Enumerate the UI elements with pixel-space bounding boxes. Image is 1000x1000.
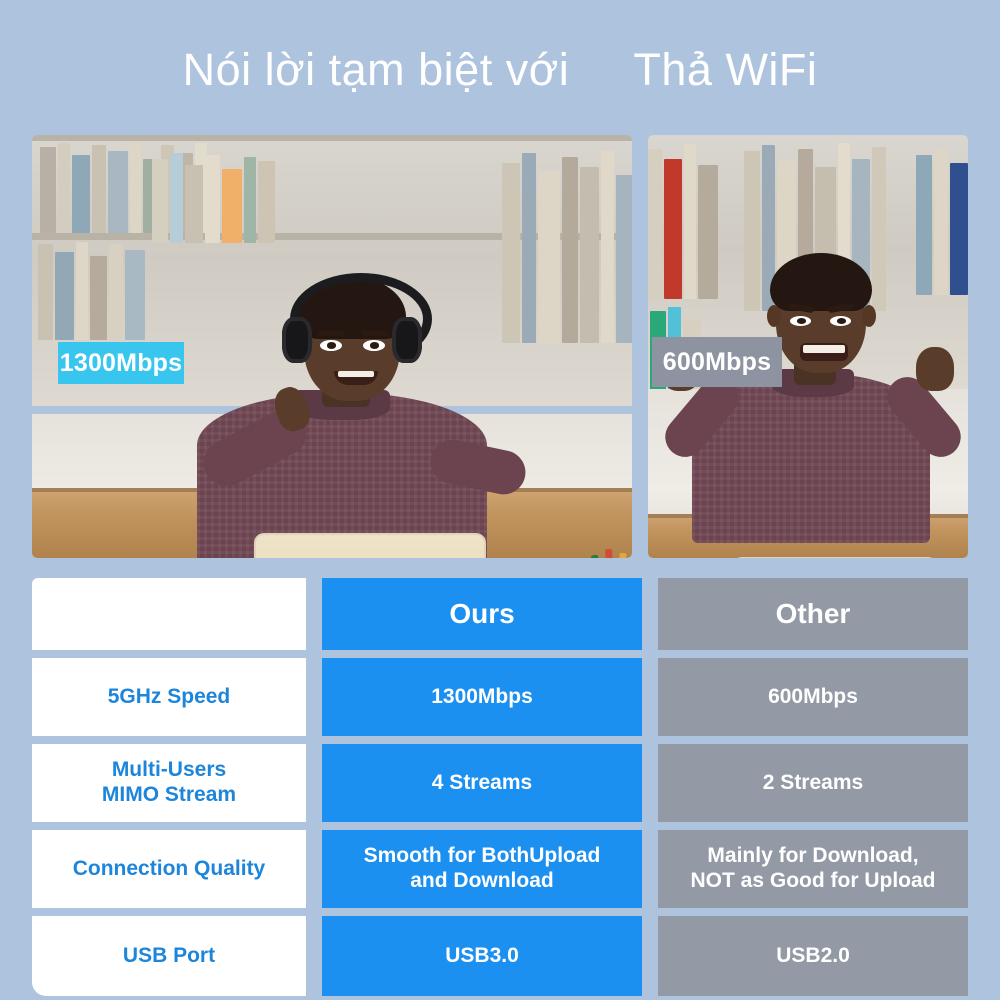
photo-ours: 1300Mbps — [32, 135, 632, 558]
header-cell-feature — [32, 578, 306, 650]
feature-cell: USB Port — [32, 916, 306, 996]
table-header-row: Ours Other — [32, 578, 968, 650]
ours-value-cell: 4 Streams — [322, 744, 642, 822]
feature-cell: Multi-Users MIMO Stream — [32, 744, 306, 822]
feature-cell: 5GHz Speed — [32, 658, 306, 736]
other-value-cell: 2 Streams — [658, 744, 968, 822]
photo-comparison-row: 1300Mbps — [32, 135, 968, 558]
header-cell-other: Other — [658, 578, 968, 650]
other-value-cell: Mainly for Download, NOT as Good for Upl… — [658, 830, 968, 908]
ours-value-cell: 1300Mbps — [322, 658, 642, 736]
page-title-text: Nói lời tạm biệt với Thả WiFi — [183, 47, 818, 92]
table-row: Multi-Users MIMO Stream 4 Streams 2 Stre… — [32, 744, 968, 822]
table-row: USB Port USB3.0 USB2.0 — [32, 916, 968, 996]
badge-speed-other: 600Mbps — [652, 337, 782, 387]
badge-speed-ours: 1300Mbps — [58, 342, 184, 384]
other-value-cell: 600Mbps — [658, 658, 968, 736]
ours-value-cell: USB3.0 — [322, 916, 642, 996]
page-title: Nói lời tạm biệt với Thả WiFi — [0, 33, 1000, 105]
badge-speed-ours-label: 1300Mbps — [60, 349, 183, 378]
other-value-cell: USB2.0 — [658, 916, 968, 996]
feature-cell: Connection Quality — [32, 830, 306, 908]
table-row: 5GHz Speed 1300Mbps 600Mbps — [32, 658, 968, 736]
header-cell-ours: Ours — [322, 578, 642, 650]
comparison-table: Ours Other 5GHz Speed 1300Mbps 600Mbps M… — [32, 578, 968, 996]
photo-other: 600Mbps — [648, 135, 968, 558]
ours-value-cell: Smooth for BothUpload and Download — [322, 830, 642, 908]
badge-speed-other-label: 600Mbps — [663, 348, 771, 377]
table-row: Connection Quality Smooth for BothUpload… — [32, 830, 968, 908]
